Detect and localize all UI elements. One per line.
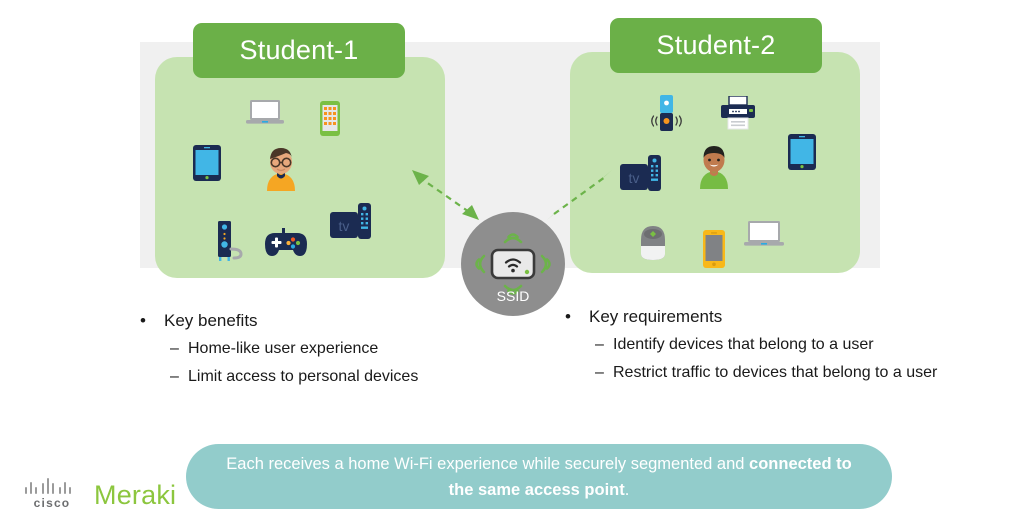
- summary-text-tail: .: [625, 481, 630, 499]
- summary-banner-text: Each receives a home Wi-Fi experience wh…: [212, 451, 866, 503]
- game-controller-icon: [265, 228, 307, 261]
- wifi-access-point-icon: [461, 212, 565, 321]
- student-2-title: Student-2: [610, 18, 822, 73]
- key-benefits-item-2-label: Limit access to personal devices: [188, 368, 418, 385]
- key-benefits-heading-label: Key benefits: [164, 311, 258, 330]
- dash-glyph: –: [595, 337, 613, 353]
- key-requirements-heading-label: Key requirements: [589, 307, 722, 326]
- key-requirements-item-1: –Identify devices that belong to a user: [595, 337, 1020, 353]
- cisco-meraki-logo: cisco Meraki: [22, 478, 176, 510]
- key-requirements-block: •Key requirements –Identify devices that…: [565, 308, 1020, 393]
- speaker-icon: [214, 221, 248, 268]
- cisco-bars-icon: [25, 478, 79, 494]
- student-1-title: Student-1: [193, 23, 405, 78]
- svg-text:tv: tv: [629, 170, 640, 186]
- summary-banner: Each receives a home Wi-Fi experience wh…: [186, 444, 892, 509]
- cisco-logo-mark: cisco: [22, 478, 82, 510]
- svg-text:tv: tv: [339, 218, 350, 234]
- key-benefits-item-2: –Limit access to personal devices: [170, 369, 570, 385]
- meraki-wordmark: Meraki: [94, 480, 176, 510]
- tv-remote-icon: [648, 155, 661, 196]
- cisco-wordmark: cisco: [22, 496, 82, 510]
- smartphone-icon: [320, 101, 340, 141]
- key-benefits-heading: •Key benefits: [140, 312, 570, 329]
- person-avatar-icon: [690, 143, 738, 194]
- key-requirements-item-1-label: Identify devices that belong to a user: [613, 336, 874, 353]
- tv-streaming-box-icon: tv: [620, 160, 648, 195]
- ssid-label: SSID: [461, 288, 565, 304]
- dash-glyph: –: [595, 365, 613, 381]
- smartphone-icon: [703, 230, 725, 273]
- summary-text-plain: Each receives a home Wi-Fi experience wh…: [226, 455, 749, 473]
- smart-speaker-tower-icon: [648, 95, 684, 140]
- laptop-icon: [245, 98, 285, 133]
- key-requirements-heading: •Key requirements: [565, 308, 1020, 325]
- printer-icon: [720, 96, 756, 135]
- key-benefits-item-1-label: Home-like user experience: [188, 340, 378, 357]
- dash-glyph: –: [170, 341, 188, 357]
- smart-home-speaker-icon: [636, 222, 670, 267]
- bullet-glyph: •: [140, 312, 164, 329]
- bullet-glyph: •: [565, 308, 589, 325]
- tv-remote-icon: [358, 203, 371, 244]
- tablet-icon: [788, 134, 816, 175]
- key-benefits-item-1: –Home-like user experience: [170, 341, 570, 357]
- key-requirements-item-2-label: Restrict traffic to devices that belong …: [613, 364, 937, 381]
- dash-glyph: –: [170, 369, 188, 385]
- laptop-icon: [743, 219, 785, 255]
- key-benefits-block: •Key benefits –Home-like user experience…: [140, 312, 570, 397]
- tablet-icon: [193, 145, 221, 186]
- person-avatar-icon: [257, 145, 305, 196]
- key-requirements-item-2: –Restrict traffic to devices that belong…: [595, 365, 1020, 381]
- tv-streaming-box-icon: tv: [330, 208, 358, 243]
